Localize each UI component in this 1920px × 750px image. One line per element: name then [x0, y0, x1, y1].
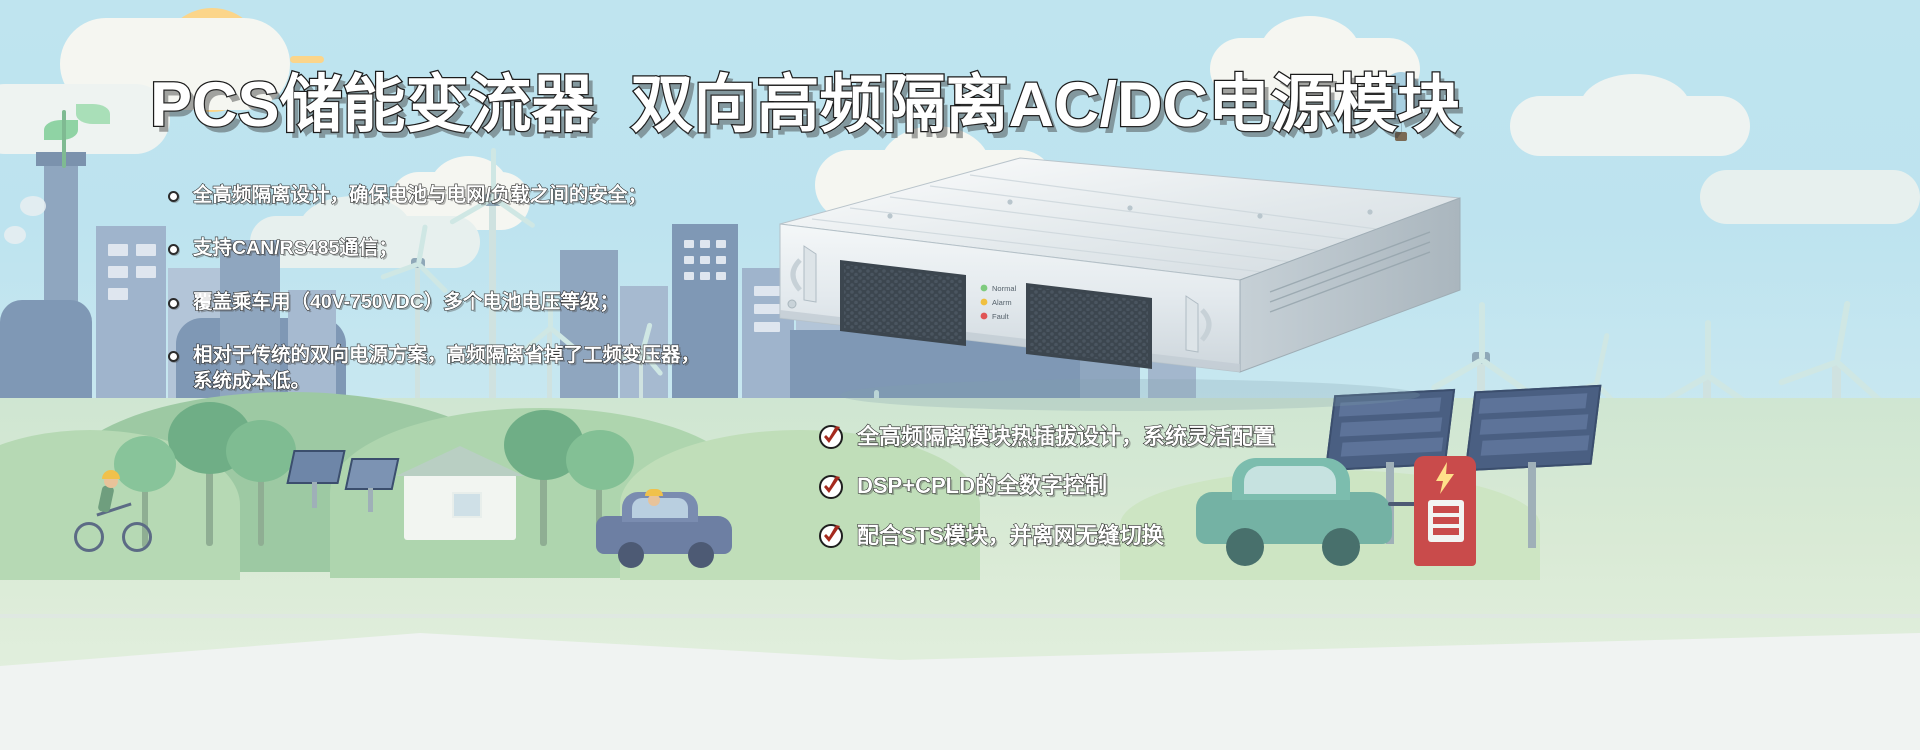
battery-level-icon — [1433, 517, 1459, 524]
list-item: 全高频隔离模块热插拔设计，系统灵活配置 — [818, 424, 1275, 450]
smoke-puff — [20, 196, 46, 216]
car-wheel — [618, 542, 644, 568]
building-window — [108, 244, 128, 256]
leaf-icon — [76, 104, 110, 124]
highlight-text: 配合STS模块，并离网无缝切换 — [857, 523, 1164, 549]
turbine-blade — [1834, 300, 1851, 362]
led-label-alarm: Alarm — [992, 298, 1012, 307]
circle-bullet-icon — [168, 298, 179, 309]
highlight-list: 全高频隔离模块热插拔设计，系统灵活配置 DSP+CPLD的全数字控制 配合STS… — [818, 424, 1275, 572]
led-label-normal: Normal — [992, 284, 1017, 293]
title-secondary: 双向高频隔离AC/DC电源模块 — [631, 74, 1461, 137]
list-item: 配合STS模块，并离网无缝切换 — [818, 523, 1275, 549]
turbine-blade — [1705, 320, 1711, 376]
solar-panel-pole — [1528, 462, 1536, 548]
leaf-icon — [44, 120, 78, 140]
cloud-shape — [1580, 74, 1690, 140]
banner-title: PCS储能变流器 双向高频隔离AC/DC电源模块 — [150, 62, 1350, 148]
circle-bullet-icon — [168, 244, 179, 255]
building-window — [136, 266, 156, 278]
check-circle-icon — [818, 523, 844, 549]
tree-foliage — [114, 436, 176, 492]
solar-panel-pole — [368, 488, 373, 512]
battery-level-icon — [1433, 506, 1459, 513]
solar-panel-pole — [312, 482, 317, 508]
list-item: 相对于传统的双向电源方案，高频隔离省掉了工频变压器， 系统成本低。 — [168, 342, 808, 395]
bicycle-wheel — [122, 522, 152, 552]
list-item: 覆盖乘车用（40V-750VDC）多个电池电压等级； — [168, 289, 808, 315]
feature-text: 支持CAN/RS485通信； — [193, 235, 398, 261]
bicycle-wheel — [74, 522, 104, 552]
chimney-cap — [36, 152, 86, 166]
lightning-bolt-icon — [1432, 462, 1458, 494]
check-circle-icon — [818, 474, 844, 500]
turbine-blade — [1594, 333, 1610, 385]
car-driver-hat-icon — [645, 489, 663, 496]
solar-panel — [286, 450, 345, 484]
car-window — [632, 498, 688, 518]
building-window — [136, 244, 156, 256]
list-item: 全高频隔离设计，确保电池与电网/负载之间的安全； — [168, 182, 808, 208]
led-label-fault: Fault — [992, 312, 1010, 321]
tree-foliage — [566, 430, 634, 490]
cloud-shape — [1700, 170, 1920, 224]
pcs-device-image: Normal Alarm Fault — [770, 150, 1470, 410]
ev-car-wheel — [1322, 528, 1360, 566]
banner-stage: Normal Alarm Fault PCS储能变流器 双向高频隔离AC/DC电… — [0, 0, 1920, 750]
solar-panel — [345, 458, 400, 490]
list-item: DSP+CPLD的全数字控制 — [818, 473, 1275, 499]
feature-list: 全高频隔离设计，确保电池与电网/负载之间的安全； 支持CAN/RS485通信； … — [168, 182, 808, 422]
turbine-blade — [1479, 302, 1485, 360]
house-roof — [396, 446, 524, 476]
tree-foliage — [226, 420, 296, 482]
highlight-text: DSP+CPLD的全数字控制 — [857, 473, 1107, 499]
feature-text: 全高频隔离设计，确保电池与电网/负载之间的安全； — [193, 182, 647, 208]
highlight-text: 全高频隔离模块热插拔设计，系统灵活配置 — [857, 424, 1275, 450]
smoke-puff — [4, 226, 26, 244]
car-wheel — [688, 542, 714, 568]
list-item: 支持CAN/RS485通信； — [168, 235, 808, 261]
building-window — [108, 288, 128, 300]
feature-text: 覆盖乘车用（40V-750VDC）多个电池电压等级； — [193, 289, 619, 315]
stem-shape — [62, 110, 66, 168]
road-edge-line — [0, 614, 1920, 618]
feature-text: 相对于传统的双向电源方案，高频隔离省掉了工频变压器， 系统成本低。 — [193, 342, 700, 395]
check-circle-icon — [818, 424, 844, 450]
battery-level-icon — [1433, 528, 1459, 535]
building-window — [108, 266, 128, 278]
circle-bullet-icon — [168, 351, 179, 362]
circle-bullet-icon — [168, 191, 179, 202]
building-shape — [0, 300, 92, 410]
title-primary: PCS储能变流器 — [150, 74, 595, 137]
house-window — [452, 492, 482, 518]
